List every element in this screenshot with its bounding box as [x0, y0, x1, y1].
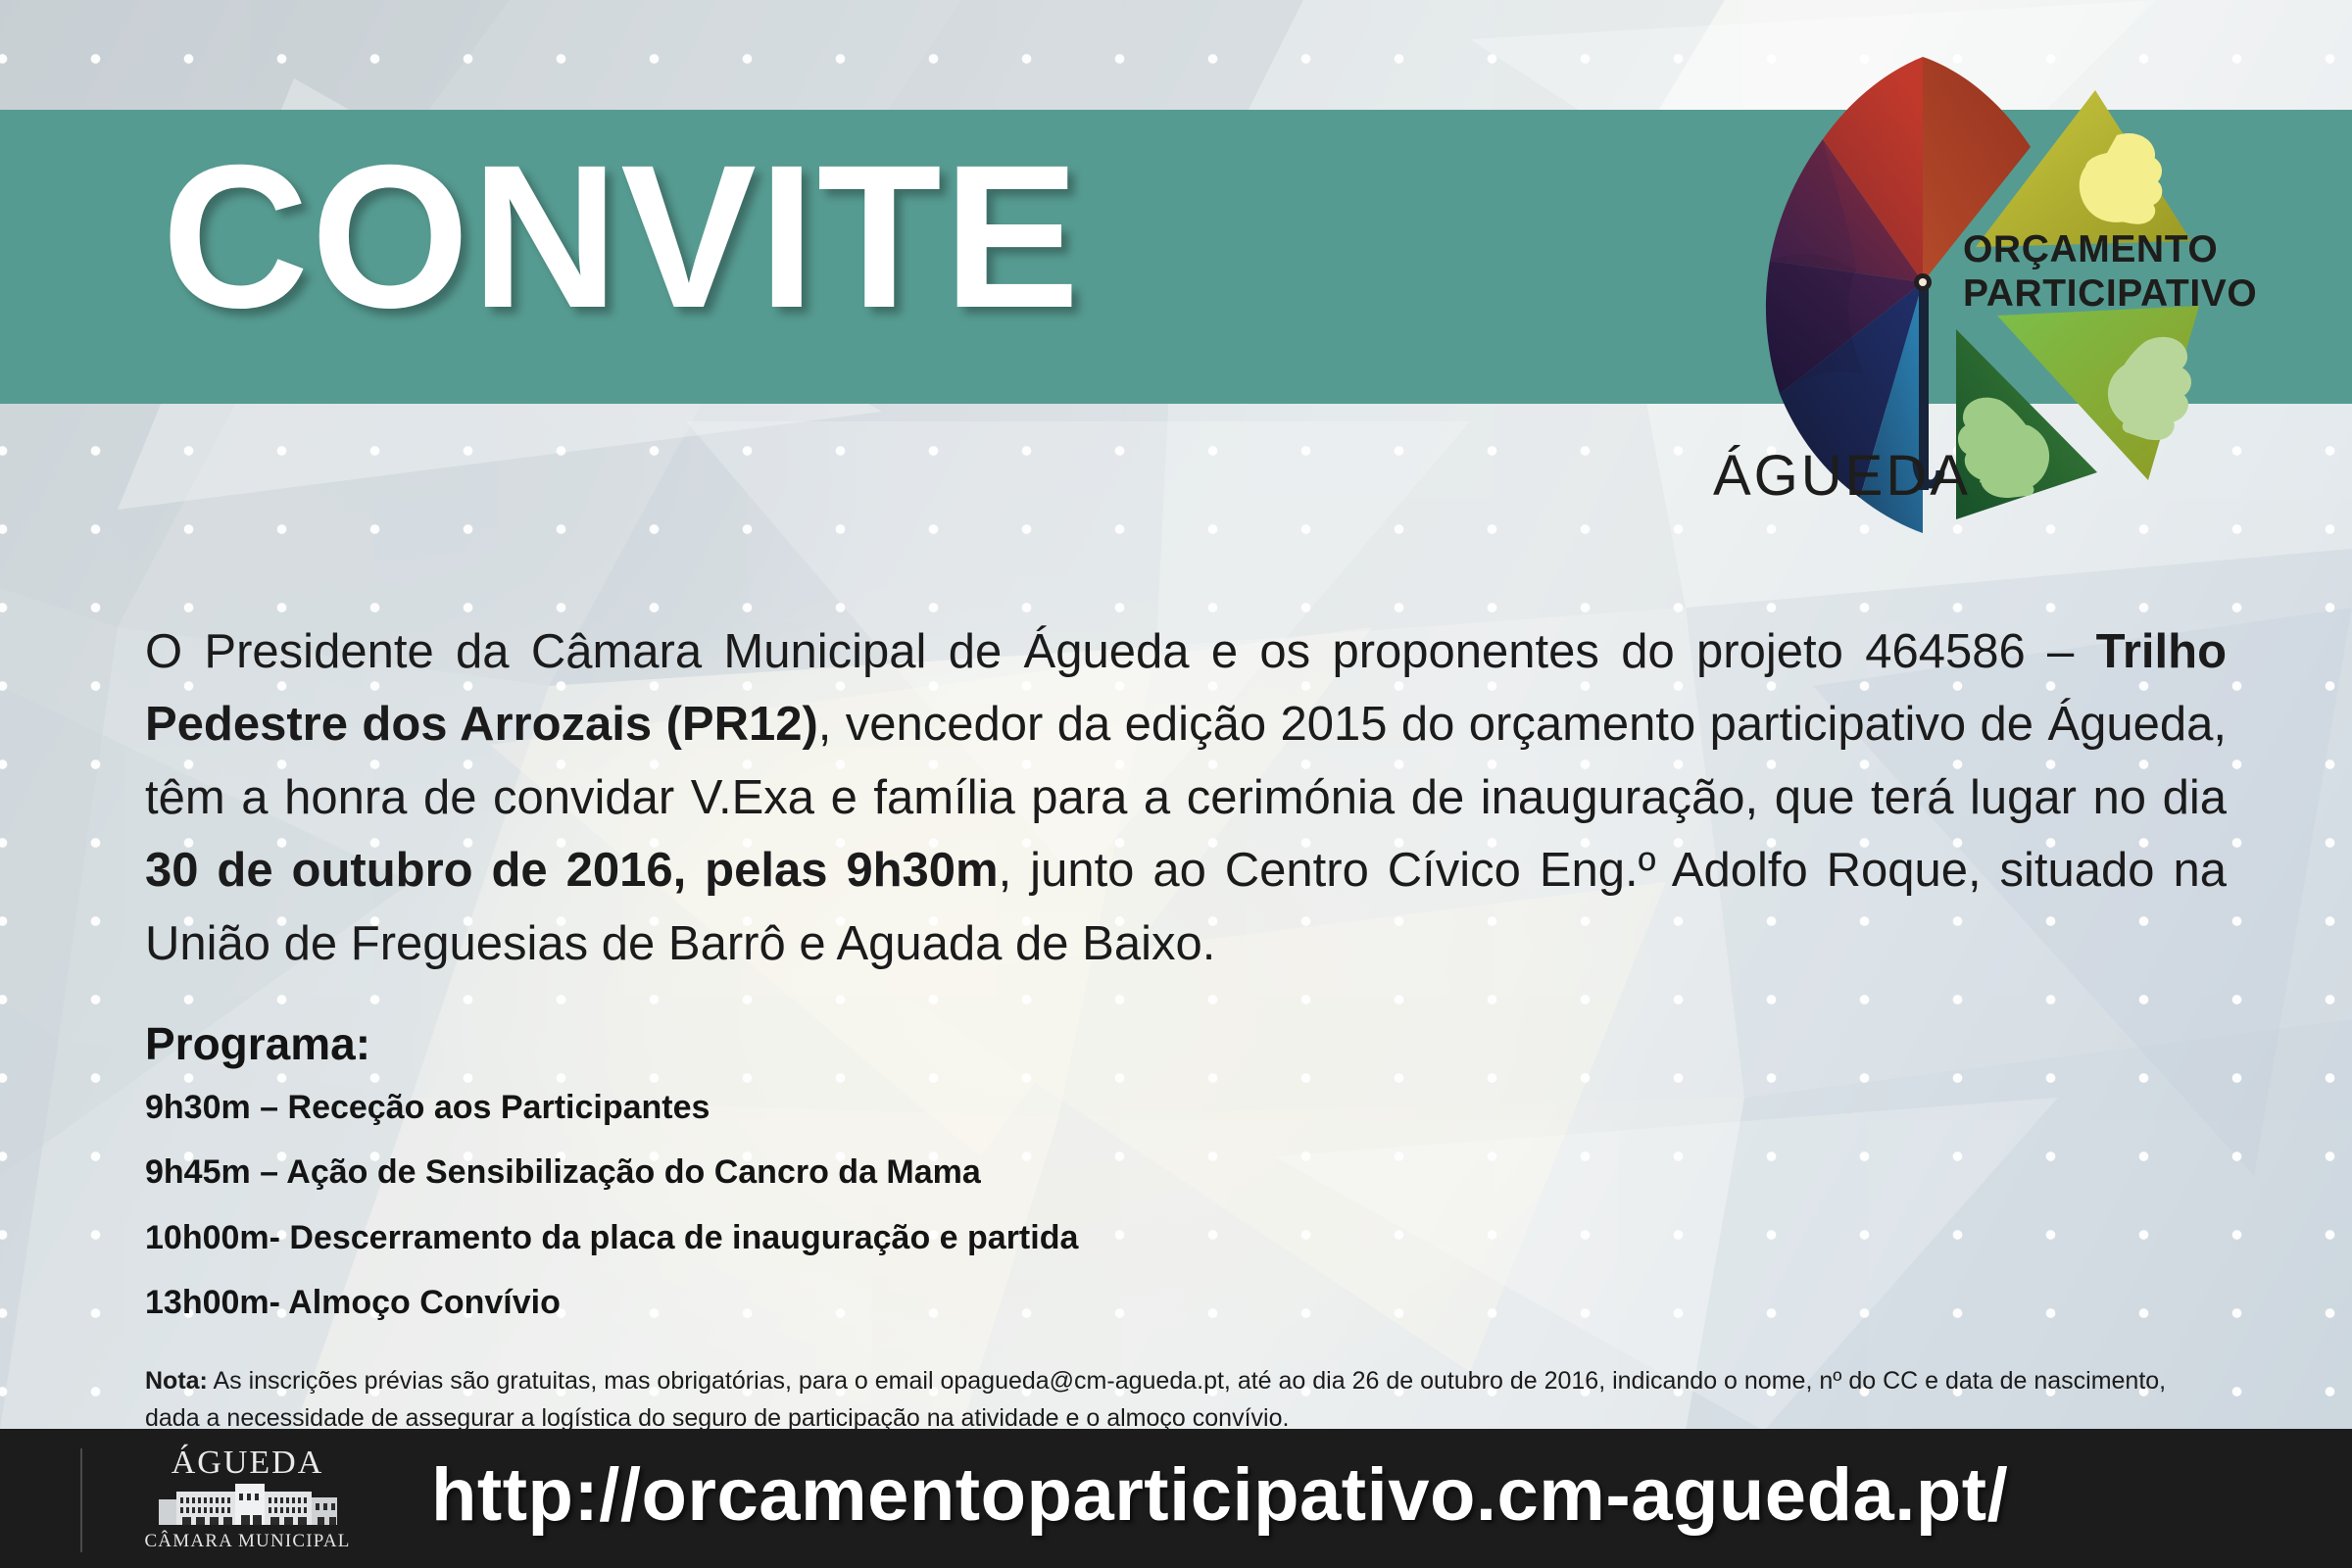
city-hall-building-icon [155, 1482, 341, 1529]
invitation-paragraph: O Presidente da Câmara Municipal de Águe… [145, 615, 2227, 980]
note-label: Nota: [145, 1367, 208, 1395]
page-title: CONVITE [162, 135, 1082, 339]
paragraph-segment-1: O Presidente da Câmara Municipal de Águe… [145, 625, 2096, 678]
list-item: 10h00m- Descerramento da placa de inaugu… [145, 1220, 1615, 1256]
municipality-name: ÁGUEDA [137, 1445, 358, 1482]
program-list: 9h30m – Receção aos Participantes 9h45m … [145, 1090, 1615, 1350]
event-datetime-bold: 30 de outubro de 2016, pelas 9h30m [145, 844, 999, 897]
list-item: 13h00m- Almoço Convívio [145, 1285, 1615, 1321]
program-heading: Programa: [145, 1017, 370, 1070]
municipality-subtitle: CÂMARA MUNICIPAL [137, 1531, 358, 1552]
list-item: 9h45m – Ação de Sensibilização do Cancro… [145, 1154, 1615, 1191]
footer-divider [80, 1448, 82, 1552]
website-url[interactable]: http://orcamentoparticipativo.cm-agueda.… [431, 1452, 2008, 1538]
logo-city-label: ÁGUEDA [1713, 443, 1971, 509]
registration-note: Nota: As inscrições prévias são gratuita… [145, 1362, 2221, 1437]
note-text: As inscrições prévias são gratuitas, mas… [145, 1367, 2166, 1432]
list-item: 9h30m – Receção aos Participantes [145, 1090, 1615, 1126]
logo-wordmark: ORÇAMENTO PARTICIPATIVO [1963, 227, 2257, 316]
camara-municipal-logo: ÁGUEDA [137, 1445, 358, 1560]
invitation-poster: CONVITE [0, 0, 2352, 1568]
